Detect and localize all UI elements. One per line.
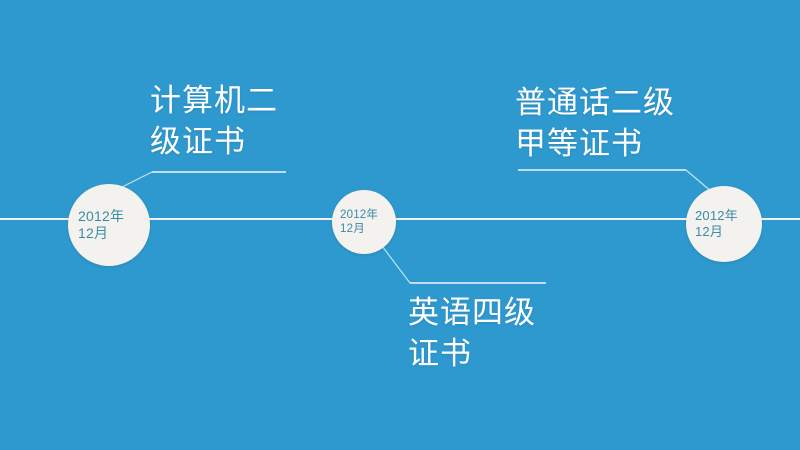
timeline-slide: 计算机二 级证书 普通话二级 甲等证书 英语四级 证书 2012年 12月 20… [0,0,800,450]
node-3-year: 2012年 [695,208,738,224]
node-3-month: 12月 [695,224,723,240]
milestone-label-english-certificate: 英语四级 证书 [408,292,658,374]
milestone-label-mandarin-certificate: 普通话二级 甲等证书 [515,82,775,164]
node-2-year: 2012年 [340,208,378,222]
milestone-label-computer-certificate: 计算机二 级证书 [150,80,390,162]
connector-line-node-1 [382,246,410,283]
timeline-node-3[interactable]: 2012年 12月 [686,186,762,262]
node-1-year: 2012年 [78,208,124,226]
node-2-month: 12月 [340,222,365,236]
node-1-month: 12月 [78,225,108,243]
timeline-node-2[interactable]: 2012年 12月 [332,190,396,254]
timeline-node-1[interactable]: 2012年 12月 [68,184,150,266]
